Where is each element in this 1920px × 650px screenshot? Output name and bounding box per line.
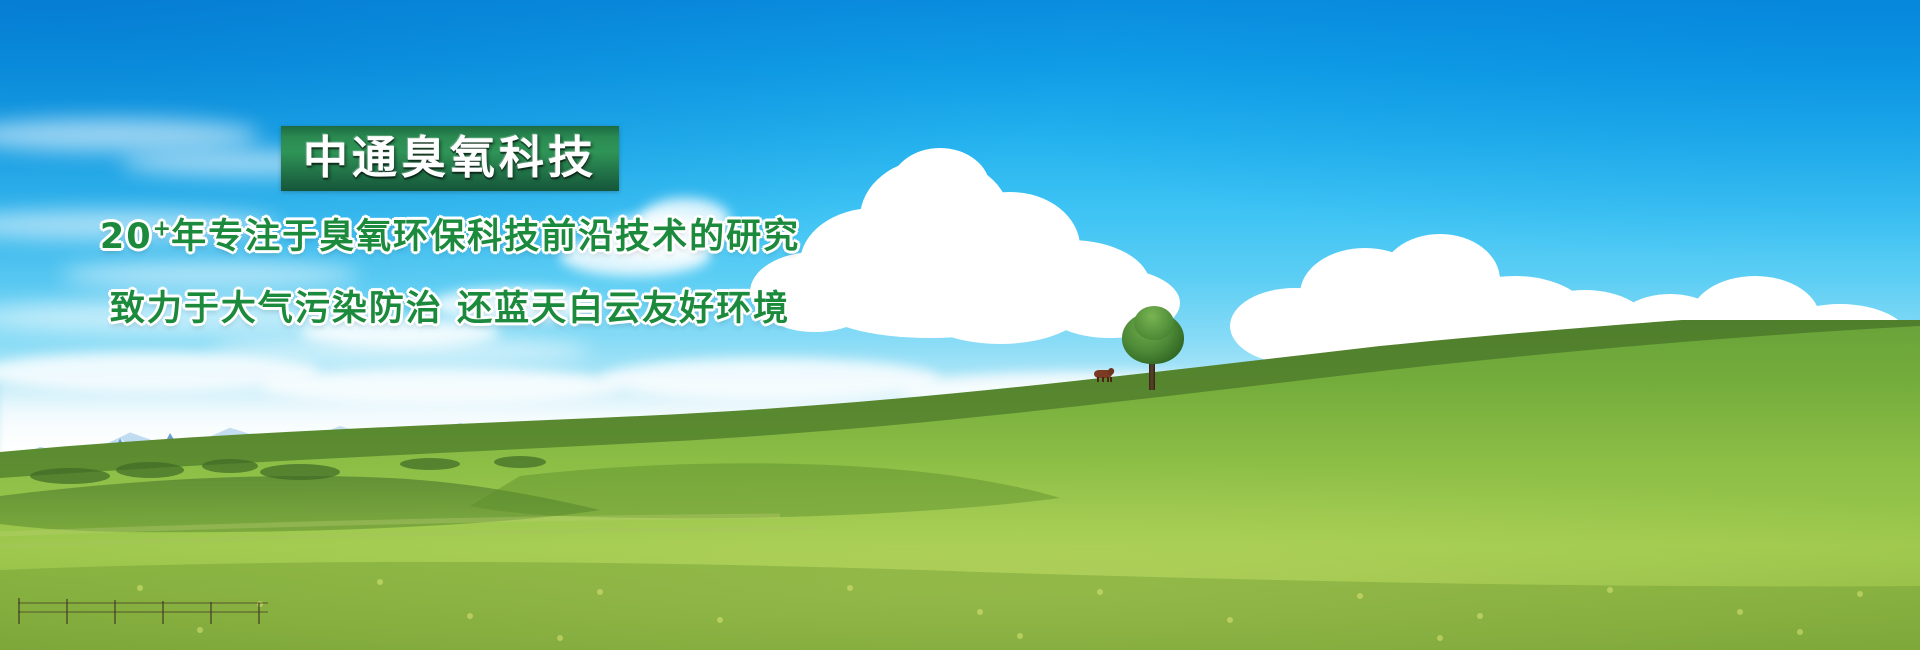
tree [1118, 312, 1188, 390]
tagline-plus-superscript: + [153, 216, 171, 241]
grassland [0, 320, 1920, 650]
tagline-line-1: 20+年专注于臭氧环保科技前沿技术的研究 [0, 213, 900, 261]
tree-crown-highlight [1134, 306, 1174, 340]
tagline-years-number: 20 [100, 217, 153, 257]
brand-plate: 中通臭氧科技 [281, 126, 619, 191]
tagline-line-2: 致力于大气污染防治 还蓝天白云友好环境 [0, 285, 900, 333]
brand-name: 中通臭氧科技 [303, 135, 597, 180]
tagline-line1-rest: 年专注于臭氧环保科技前沿技术的研究 [171, 217, 800, 257]
banner-copy: 中通臭氧科技 20+年专注于臭氧环保科技前沿技术的研究 致力于大气污染防治 还蓝… [0, 126, 900, 334]
hero-banner: 中通臭氧科技 20+年专注于臭氧环保科技前沿技术的研究 致力于大气污染防治 还蓝… [0, 0, 1920, 650]
fence [18, 594, 268, 624]
horse [1094, 368, 1116, 382]
